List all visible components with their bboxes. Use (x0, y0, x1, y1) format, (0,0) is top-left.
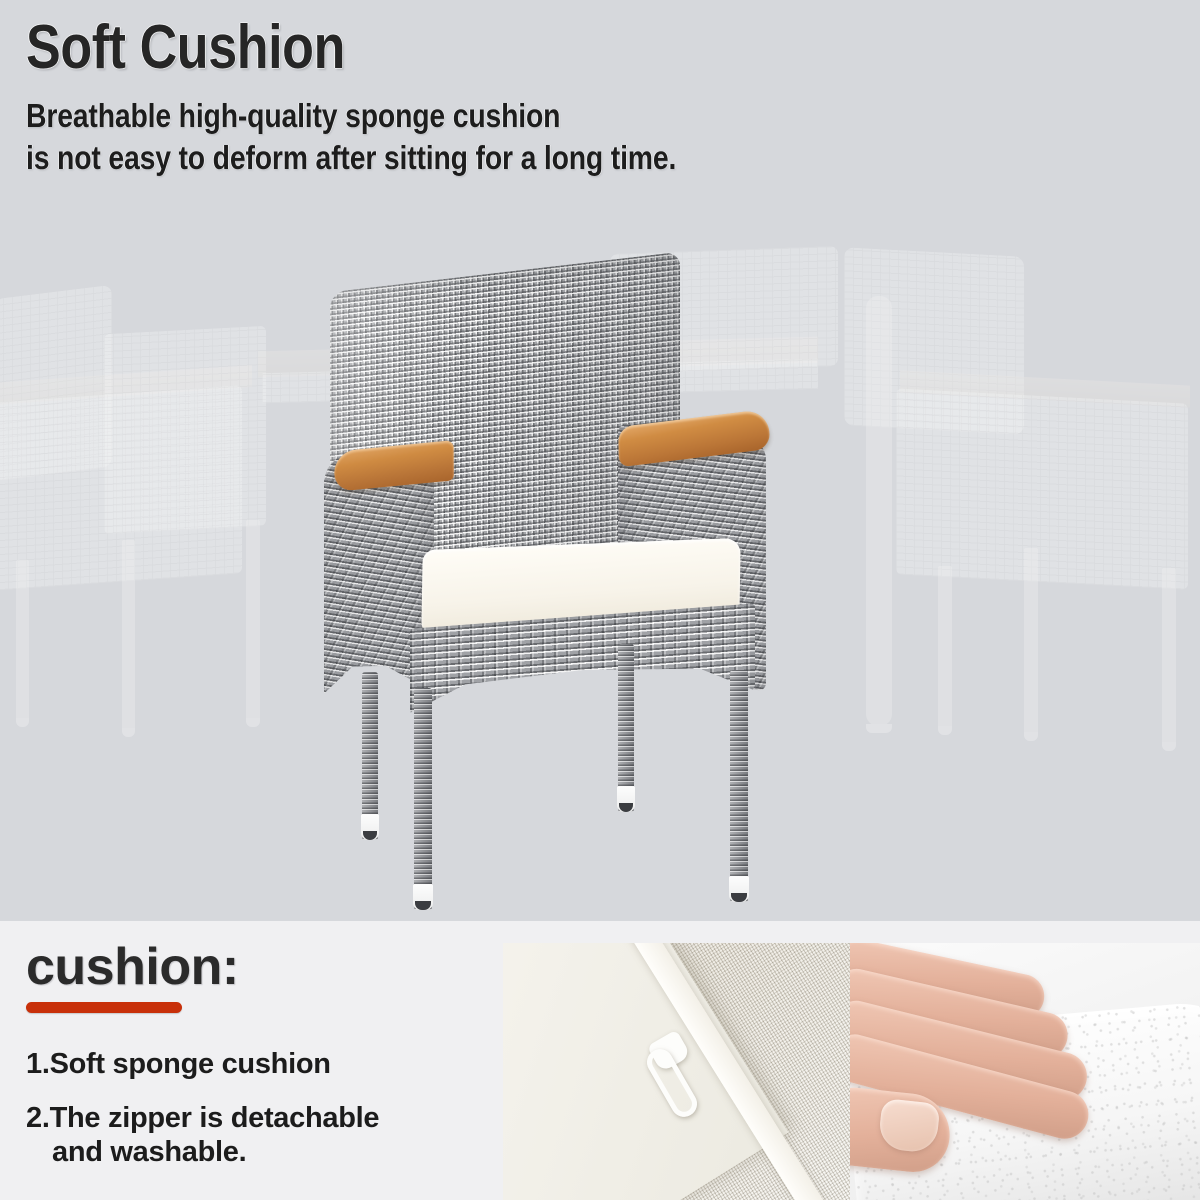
foam-closeup-photo (850, 943, 1200, 1200)
list-item-text-wrap: and washable. (26, 1135, 486, 1169)
chair-foot-cap-front-right (729, 876, 749, 902)
ghost-leg-r3 (1024, 548, 1038, 734)
chair-leg-front-right (730, 670, 748, 902)
list-item-text: 1.Soft sponge cushion (26, 1048, 331, 1080)
ghost-leg-r1 (866, 296, 892, 726)
ghost-leg-r2 (938, 566, 952, 728)
cushion-feature-list: 1.Soft sponge cushion 2.The zipper is de… (26, 1047, 486, 1170)
hero-subtitle-line-2: is not easy to deform after sitting for … (26, 137, 676, 179)
cushion-heading: cushion: (26, 941, 486, 993)
chair-foot-cap-back-right (617, 786, 635, 812)
chair-leg-back-left (362, 672, 378, 840)
ghost-leg-r4 (1162, 568, 1176, 744)
chair-leg-front-left (414, 688, 432, 910)
hero-subtitle: Breathable high-quality sponge cushion i… (26, 95, 676, 179)
ghost-chair-left2 (104, 326, 266, 534)
cushion-detail-section: cushion: 1.Soft sponge cushion 2.The zip… (0, 921, 1200, 1200)
hero-text-block: Soft Cushion Breathable high-quality spo… (26, 16, 782, 180)
chair-foot-cap-front-left (413, 884, 433, 910)
ghost-leg-l1 (16, 560, 29, 720)
chair-foot-cap-back-left (361, 814, 379, 840)
list-item-text: 2.The zipper is detachable (26, 1102, 379, 1134)
list-item: 1.Soft sponge cushion (26, 1047, 486, 1081)
chair-leg-back-right (618, 644, 634, 812)
accent-underline (26, 1002, 182, 1013)
product-chair-image (318, 272, 788, 917)
hero-subtitle-line-1: Breathable high-quality sponge cushion (26, 95, 676, 137)
product-feature-page: Soft Cushion Breathable high-quality spo… (0, 0, 1200, 1200)
ghost-leg-l2 (122, 540, 135, 730)
zipper-closeup-photo (503, 943, 850, 1200)
page-title: Soft Cushion (26, 16, 661, 79)
cushion-text-block: cushion: 1.Soft sponge cushion 2.The zip… (26, 941, 486, 1190)
detail-photo-strip (503, 943, 1200, 1200)
list-item: 2.The zipper is detachable and washable. (26, 1101, 486, 1169)
ghost-chair-right-body (896, 388, 1188, 589)
hero-section: Soft Cushion Breathable high-quality spo… (0, 0, 1200, 921)
ghost-leg-l3 (246, 520, 260, 720)
